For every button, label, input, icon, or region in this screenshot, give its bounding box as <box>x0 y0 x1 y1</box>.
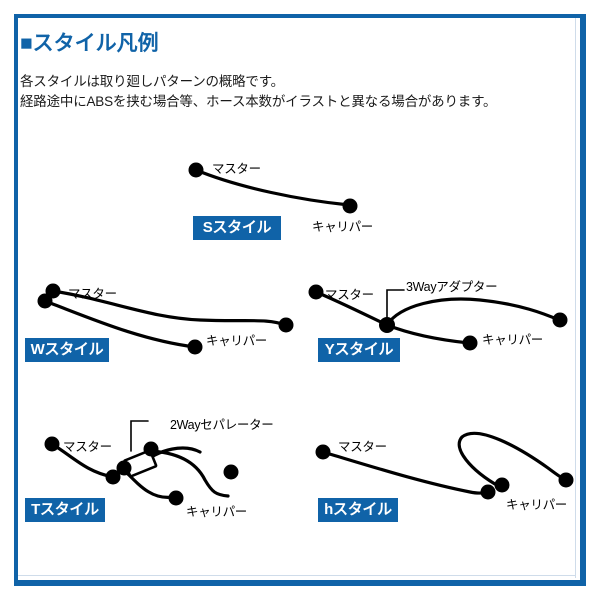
h-style-master-dot <box>316 445 331 460</box>
s-style-caliper-dot <box>343 199 358 214</box>
t-style-separator-end-dot <box>144 442 159 457</box>
h-style-caliper-dot-1 <box>481 485 496 500</box>
w-style-master-dot-2 <box>38 294 53 309</box>
h-style-master-label: マスター <box>338 436 387 455</box>
h-style-hose-loop <box>459 433 564 487</box>
style-badge-t[interactable]: Tスタイル <box>25 498 105 522</box>
s-style-caliper-label: キャリパー <box>312 216 373 235</box>
t-style-2way-separator-label: 2Wayセパレーター <box>170 414 274 433</box>
t-style-master-dot <box>45 437 60 452</box>
h-style-caliper-dot-3 <box>559 473 574 488</box>
y-style-master-label: マスター <box>325 284 374 303</box>
w-style-caliper-dot-1 <box>279 318 294 333</box>
style-badge-w[interactable]: Wスタイル <box>25 338 109 362</box>
t-style-hose-branch-upper <box>148 451 228 496</box>
w-style-caliper-label: キャリパー <box>206 330 267 349</box>
y-style-master-dot <box>309 285 324 300</box>
style-badge-h[interactable]: hスタイル <box>318 498 398 522</box>
y-style-caliper-dot-2 <box>463 336 478 351</box>
style-badge-y[interactable]: Yスタイル <box>318 338 400 362</box>
y-style-3way-adapter-label: 3Wayアダプター <box>406 276 497 295</box>
y-style-caliper-label: キャリパー <box>482 329 543 348</box>
s-style-master-dot <box>189 163 204 178</box>
h-style-caliper-dot-2 <box>495 478 510 493</box>
t-style-master-label: マスター <box>63 436 112 455</box>
y-style-caliper-dot-1 <box>553 313 568 328</box>
style-badge-s[interactable]: Sスタイル <box>193 216 281 240</box>
style-legend-diagram: ■スタイル凡例 各スタイルは取り廻しパターンの概略です。 経路途中にABSを挟む… <box>0 0 600 600</box>
w-style-master-label: マスター <box>68 283 117 302</box>
h-style-caliper-label: キャリパー <box>506 494 567 513</box>
y-style-hose-branch-upper <box>387 299 559 325</box>
t-style-caliper-label: キャリパー <box>186 501 247 520</box>
t-style-junction-dot-upper <box>117 461 132 476</box>
y-style-3way-adapter-dot <box>379 317 395 333</box>
w-style-caliper-dot-2 <box>188 340 203 355</box>
t-style-caliper-dot-1 <box>224 465 239 480</box>
t-style-caliper-dot-2 <box>169 491 184 506</box>
s-style-master-label: マスター <box>212 158 261 177</box>
